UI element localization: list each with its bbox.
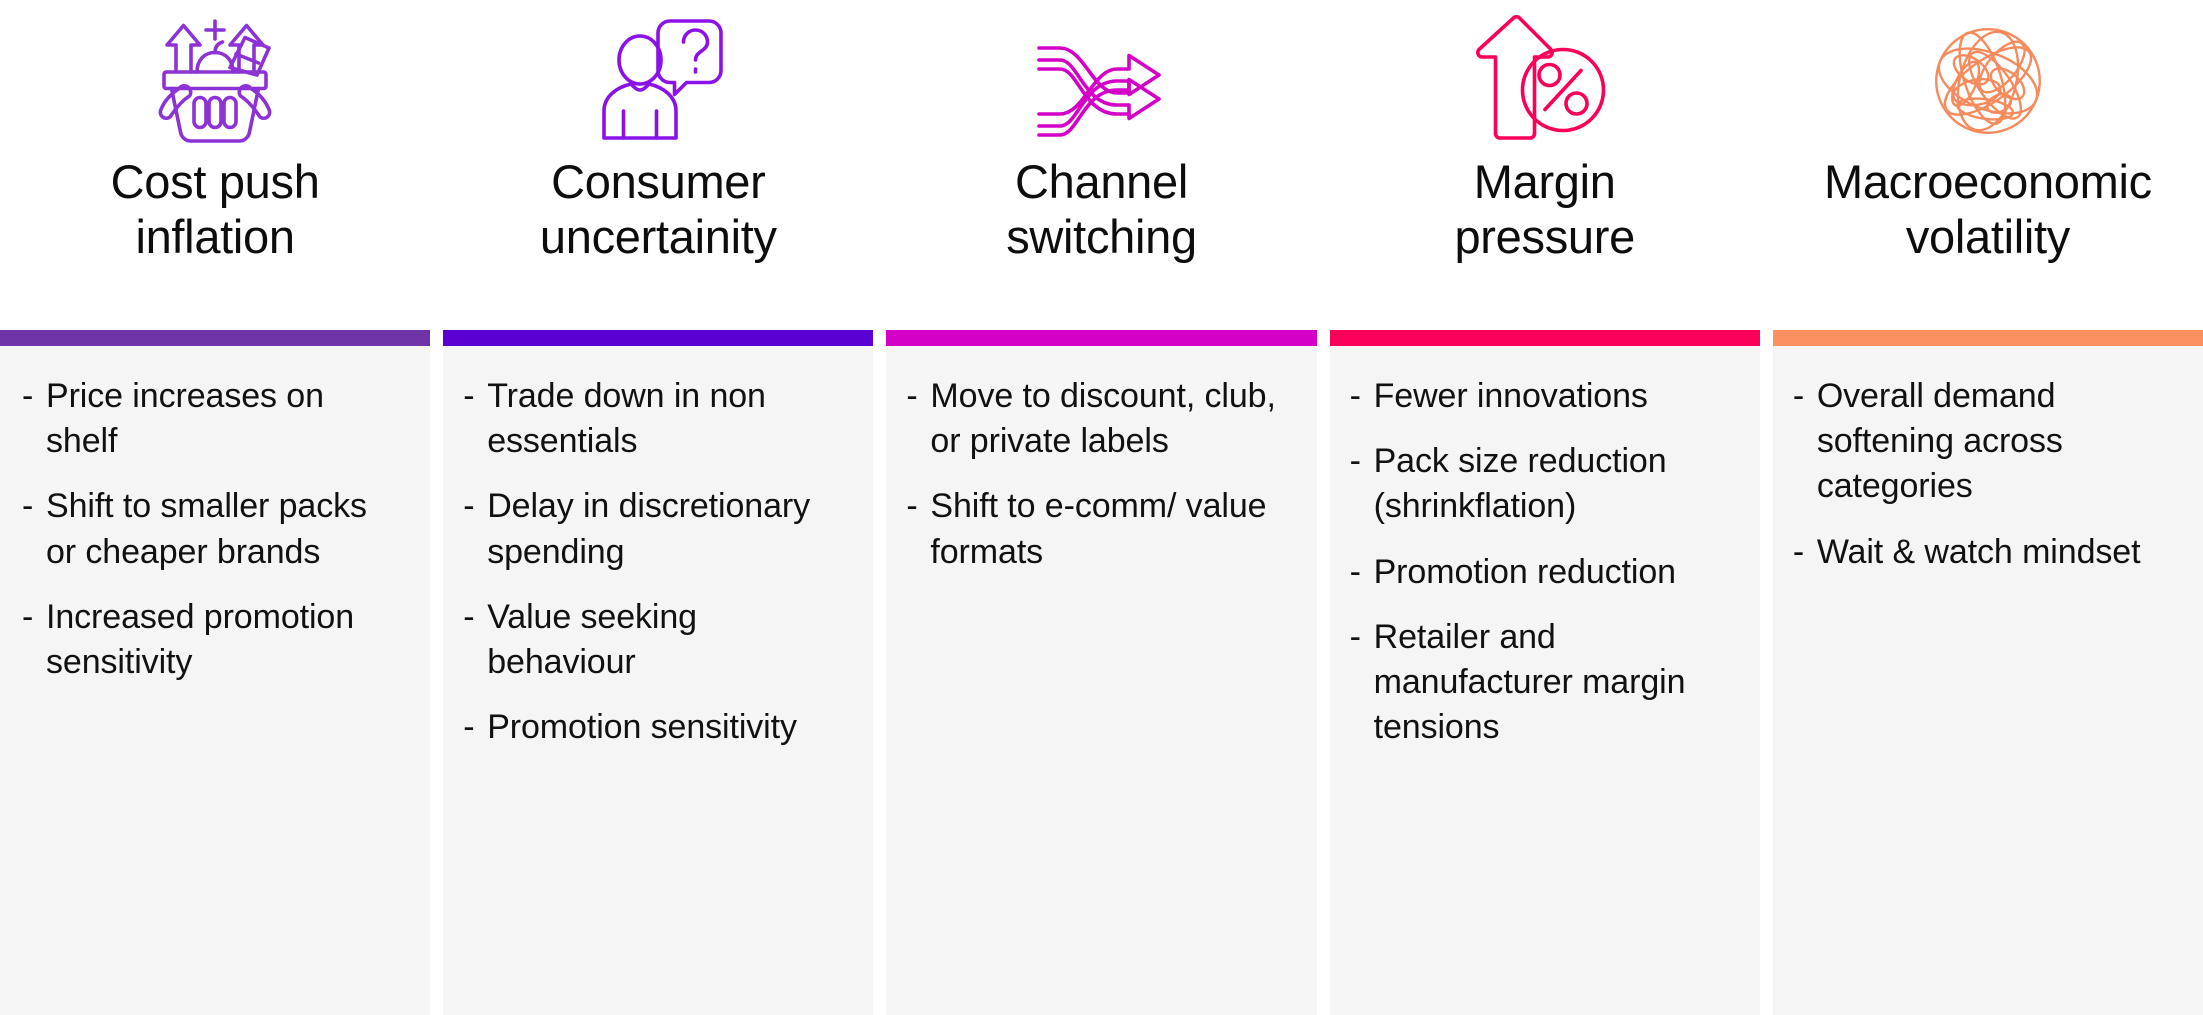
driver-panel: -Price increases on shelf-Shift to small… [0,346,430,1015]
driver-column-macroeconomic-volatility: Macroeconomic volatility-Overall demand … [1773,0,2203,1015]
bullet-text: Shift to smaller packs or cheaper brands [46,484,404,574]
bullet-dash-icon: - [904,484,930,529]
accent-bar [0,330,430,346]
bullet-text: Value seeking behaviour [487,595,847,685]
bullet-text: Wait & watch mindset [1817,530,2177,575]
list-item: -Trade down in non essentials [461,374,847,464]
driver-heading-wrap: Macroeconomic volatility [1773,155,2203,330]
shopping-basket-rising-prices-icon [0,0,430,155]
up-arrow-percent-icon [1330,0,1760,155]
driver-heading: Cost push inflation [111,155,320,264]
tangled-scribble-ball-icon [1773,0,2203,155]
driver-heading-wrap: Cost push inflation [0,155,430,330]
bullet-dash-icon: - [1348,550,1374,595]
list-item: -Pack size reduction (shrinkflation) [1348,439,1734,529]
bullet-dash-icon: - [461,374,487,419]
bullet-dash-icon: - [1791,374,1817,419]
bullet-dash-icon: - [904,374,930,419]
list-item: -Shift to e-comm/ value formats [904,484,1290,574]
driver-heading: Channel switching [1006,155,1197,264]
bullet-dash-icon: - [461,705,487,750]
bullet-text: Promotion sensitivity [487,705,847,750]
person-question-bubble-icon [443,0,873,155]
driver-panel: -Overall demand softening across categor… [1773,346,2203,1015]
driver-heading-wrap: Consumer uncertainity [443,155,873,330]
list-item: -Promotion sensitivity [461,705,847,750]
bullet-dash-icon: - [20,484,46,529]
list-item: -Promotion reduction [1348,550,1734,595]
bullet-text: Promotion reduction [1374,550,1734,595]
driver-panel: -Fewer innovations-Pack size reduction (… [1330,346,1760,1015]
list-item: -Retailer and manufacturer margin tensio… [1348,615,1734,751]
bullet-list: -Overall demand softening across categor… [1791,374,2177,575]
bullet-list: -Move to discount, club, or private labe… [904,374,1290,575]
driver-heading: Margin pressure [1454,155,1634,264]
driver-heading-wrap: Channel switching [886,155,1316,330]
list-item: -Increased promotion sensitivity [20,595,404,685]
driver-heading-wrap: Margin pressure [1330,155,1760,330]
bullet-text: Increased promotion sensitivity [46,595,404,685]
bullet-text: Pack size reduction (shrinkflation) [1374,439,1734,529]
bullet-dash-icon: - [1791,530,1817,575]
driver-column-consumer-uncertainity: Consumer uncertainity-Trade down in non … [443,0,873,1015]
bullet-list: -Fewer innovations-Pack size reduction (… [1348,374,1734,751]
bullet-text: Delay in discretionary spending [487,484,847,574]
bullet-dash-icon: - [1348,374,1374,419]
driver-heading: Macroeconomic volatility [1824,155,2152,264]
list-item: -Delay in discretionary spending [461,484,847,574]
bullet-text: Trade down in non essentials [487,374,847,464]
bullet-list: -Price increases on shelf-Shift to small… [20,374,404,685]
bullet-dash-icon: - [20,374,46,419]
bullet-text: Overall demand softening across categori… [1817,374,2177,510]
driver-column-cost-push-inflation: Cost push inflation-Price increases on s… [0,0,430,1015]
bullet-text: Retailer and manufacturer margin tension… [1374,615,1734,751]
accent-bar [1773,330,2203,346]
driver-heading: Consumer uncertainity [540,155,777,264]
list-item: -Shift to smaller packs or cheaper brand… [20,484,404,574]
list-item: -Wait & watch mindset [1791,530,2177,575]
bullet-dash-icon: - [1348,615,1374,660]
accent-bar [443,330,873,346]
bullet-list: -Trade down in non essentials-Delay in d… [461,374,847,751]
bullet-dash-icon: - [461,484,487,529]
list-item: -Price increases on shelf [20,374,404,464]
bullet-dash-icon: - [20,595,46,640]
driver-panel: -Trade down in non essentials-Delay in d… [443,346,873,1015]
drivers-board: Cost push inflation-Price increases on s… [0,0,2203,1015]
driver-column-margin-pressure: Margin pressure-Fewer innovations-Pack s… [1330,0,1760,1015]
bullet-text: Fewer innovations [1374,374,1734,419]
driver-column-channel-switching: Channel switching-Move to discount, club… [886,0,1316,1015]
accent-bar [886,330,1316,346]
list-item: -Overall demand softening across categor… [1791,374,2177,510]
driver-panel: -Move to discount, club, or private labe… [886,346,1316,1015]
list-item: -Fewer innovations [1348,374,1734,419]
bullet-dash-icon: - [1348,439,1374,484]
bullet-text: Shift to e-comm/ value formats [930,484,1290,574]
bullet-text: Move to discount, club, or private label… [930,374,1290,464]
list-item: -Move to discount, club, or private labe… [904,374,1290,464]
bullet-text: Price increases on shelf [46,374,404,464]
crossing-arrows-switch-icon [886,0,1316,155]
list-item: -Value seeking behaviour [461,595,847,685]
accent-bar [1330,330,1760,346]
bullet-dash-icon: - [461,595,487,640]
